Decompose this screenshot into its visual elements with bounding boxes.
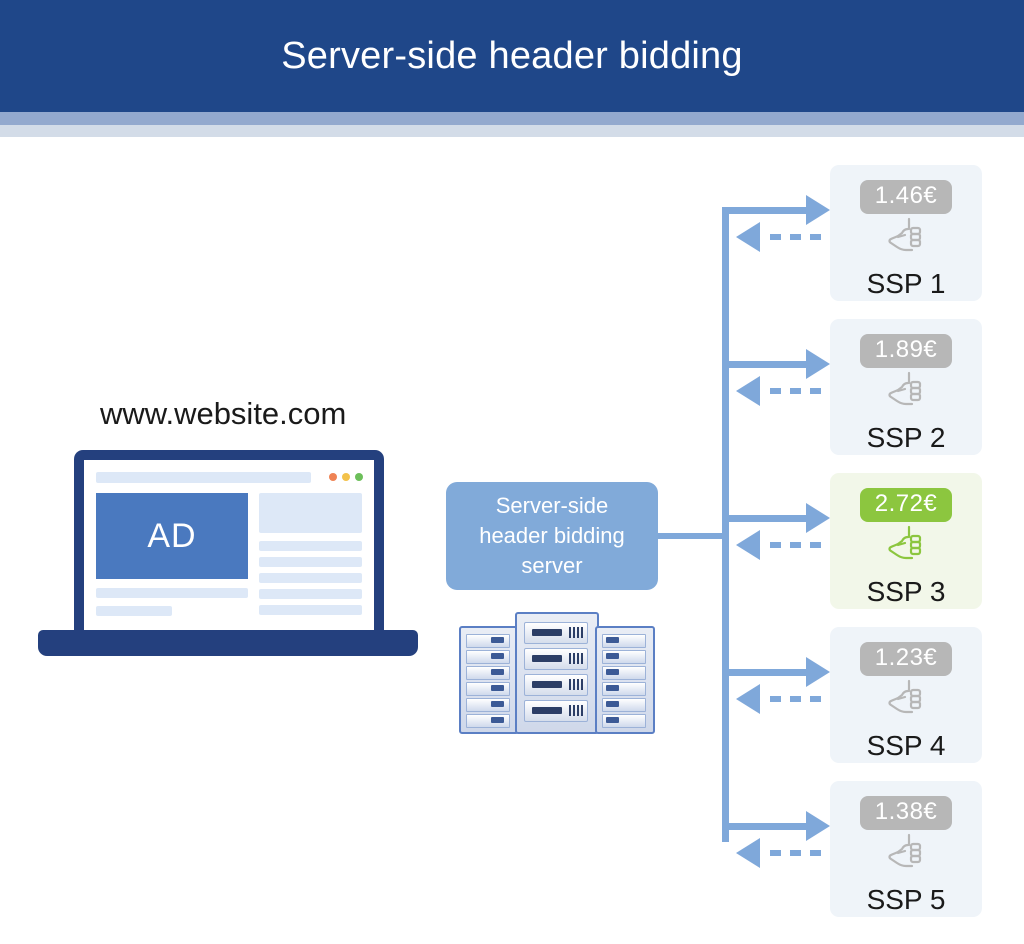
ssp-card-5[interactable]: 1.38€ SSP 5	[830, 781, 982, 917]
laptop-lid: AD	[74, 450, 384, 632]
skeleton-line	[259, 541, 362, 551]
bid-request-arrow	[722, 669, 810, 676]
bid-response-arrow	[770, 850, 837, 856]
bid-request-arrow-head-icon	[806, 811, 830, 841]
skeleton-line	[259, 605, 362, 615]
bid-response-arrow	[770, 542, 837, 548]
browser-traffic-lights	[329, 473, 363, 481]
bid-request-arrow	[722, 361, 810, 368]
skeleton-line	[96, 588, 248, 598]
server-side-header-bidding-server-node: Server-side header bidding server	[446, 482, 658, 590]
skeleton-line	[259, 557, 362, 567]
skeleton-line	[96, 606, 172, 616]
bid-response-arrow	[770, 696, 837, 702]
server-rack-right	[595, 626, 655, 734]
website-url-label: www.website.com	[100, 396, 346, 432]
bid-price-badge: 1.46€	[860, 180, 953, 214]
ssp-name-label: SSP 1	[867, 268, 946, 300]
bid-response-arrow-head-icon	[736, 376, 760, 406]
bid-response-arrow-head-icon	[736, 222, 760, 252]
hand-bid-icon	[884, 677, 928, 726]
ssp-name-label: SSP 5	[867, 884, 946, 916]
bid-request-arrow	[722, 207, 810, 214]
header-banner: Server-side header bidding	[0, 0, 1024, 112]
server-rack-center	[515, 612, 599, 734]
bid-price-badge: 2.72€	[860, 488, 953, 522]
header-stripe-light	[0, 125, 1024, 137]
page-title: Server-side header bidding	[281, 35, 742, 78]
hand-bid-icon	[884, 831, 928, 880]
ad-slot-label: AD	[147, 517, 196, 556]
window-maximize-dot-icon	[355, 473, 363, 481]
hand-bid-icon	[884, 369, 928, 418]
ssp-name-label: SSP 4	[867, 730, 946, 762]
ssp-card-3[interactable]: 2.72€ SSP 3	[830, 473, 982, 609]
page-sidebar-card	[259, 493, 362, 533]
bid-request-arrow-head-icon	[806, 195, 830, 225]
ad-slot: AD	[96, 493, 248, 579]
bid-request-arrow-head-icon	[806, 503, 830, 533]
ssp-name-label: SSP 2	[867, 422, 946, 454]
bid-request-arrow	[722, 823, 810, 830]
browser-address-bar	[96, 472, 311, 483]
server-to-trunk-connector	[658, 533, 726, 539]
window-close-dot-icon	[329, 473, 337, 481]
hand-bid-icon	[884, 523, 928, 572]
bid-response-arrow	[770, 388, 837, 394]
ssp-card-4[interactable]: 1.23€ SSP 4	[830, 627, 982, 763]
ssp-trunk-line	[722, 210, 729, 842]
ssp-card-1[interactable]: 1.46€ SSP 1	[830, 165, 982, 301]
bid-price-badge: 1.89€	[860, 334, 953, 368]
skeleton-line	[259, 573, 362, 583]
server-rack-left	[459, 626, 519, 734]
server-node-label: Server-side header bidding server	[479, 491, 625, 581]
ssp-card-2[interactable]: 1.89€ SSP 2	[830, 319, 982, 455]
bid-response-arrow-head-icon	[736, 684, 760, 714]
server-rack-illustration	[455, 612, 655, 730]
bid-price-badge: 1.38€	[860, 796, 953, 830]
bid-request-arrow-head-icon	[806, 349, 830, 379]
publisher-laptop: AD	[38, 450, 418, 660]
ssp-name-label: SSP 3	[867, 576, 946, 608]
bid-response-arrow-head-icon	[736, 530, 760, 560]
header-stripe-mid	[0, 112, 1024, 125]
browser-window: AD	[84, 460, 374, 632]
skeleton-line	[259, 589, 362, 599]
bid-price-badge: 1.23€	[860, 642, 953, 676]
bid-request-arrow	[722, 515, 810, 522]
window-minimize-dot-icon	[342, 473, 350, 481]
bid-request-arrow-head-icon	[806, 657, 830, 687]
bid-response-arrow	[770, 234, 837, 240]
hand-bid-icon	[884, 215, 928, 264]
laptop-base	[38, 630, 418, 656]
bid-response-arrow-head-icon	[736, 838, 760, 868]
